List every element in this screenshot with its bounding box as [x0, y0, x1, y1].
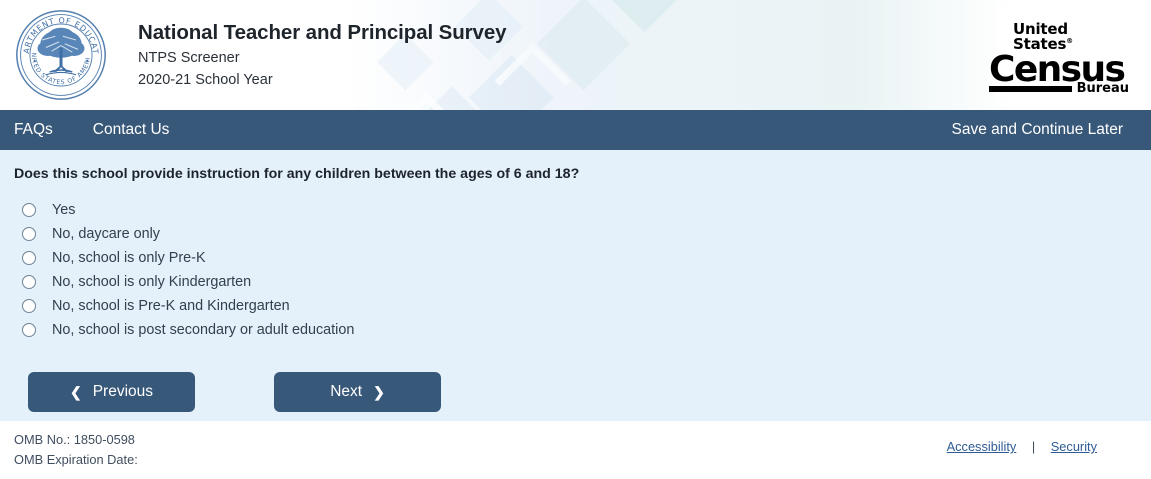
radio-button-yes[interactable]: [22, 203, 36, 217]
radio-label-daycare-only: No, daycare only: [52, 226, 160, 242]
survey-subtitle: NTPS Screener: [138, 51, 506, 66]
save-and-continue-later-link[interactable]: Save and Continue Later: [952, 121, 1123, 139]
census-logo-line1: United States®: [1013, 22, 1129, 52]
omb-number: OMB No.: 1850-0598: [14, 430, 138, 450]
nav-link-contact-us[interactable]: Contact Us: [93, 121, 170, 139]
survey-question-panel: Does this school provide instruction for…: [0, 150, 1151, 421]
page-footer: OMB No.: 1850-0598 OMB Expiration Date: …: [0, 421, 1151, 479]
next-button-label: Next: [330, 383, 362, 401]
footer-link-group: Accessibility | Security: [947, 439, 1097, 479]
radio-option-row[interactable]: No, school is only Pre-K: [14, 246, 1151, 270]
radio-button-only-kindergarten[interactable]: [22, 275, 36, 289]
radio-option-row[interactable]: No, school is only Kindergarten: [14, 270, 1151, 294]
radio-option-group[interactable]: Yes No, daycare only No, school is only …: [14, 198, 1151, 342]
census-logo-bureau: Bureau: [1077, 82, 1129, 95]
radio-option-row[interactable]: No, school is Pre-K and Kindergarten: [14, 294, 1151, 318]
census-bureau-logo: United States® Census Bureau: [989, 22, 1129, 95]
header-title-block: National Teacher and Principal Survey NT…: [138, 23, 506, 88]
chevron-left-icon: ❮: [70, 384, 82, 401]
accessibility-link[interactable]: Accessibility: [947, 439, 1017, 454]
question-text: Does this school provide instruction for…: [14, 166, 1151, 182]
radio-label-only-kindergarten: No, school is only Kindergarten: [52, 274, 251, 290]
radio-button-daycare-only[interactable]: [22, 227, 36, 241]
radio-button-post-secondary[interactable]: [22, 323, 36, 337]
radio-button-prek-and-kindergarten[interactable]: [22, 299, 36, 313]
radio-option-row[interactable]: No, daycare only: [14, 222, 1151, 246]
previous-button[interactable]: ❮ Previous: [28, 372, 195, 412]
previous-button-label: Previous: [93, 383, 153, 401]
school-year-label: 2020-21 School Year: [138, 73, 506, 88]
omb-expiration-date: OMB Expiration Date:: [14, 450, 138, 470]
omb-info-block: OMB No.: 1850-0598 OMB Expiration Date:: [14, 430, 138, 479]
chevron-right-icon: ❯: [373, 384, 385, 401]
radio-label-prek-and-kindergarten: No, school is Pre-K and Kindergarten: [52, 298, 290, 314]
radio-option-row[interactable]: Yes: [14, 198, 1151, 222]
census-logo-rule: [989, 86, 1072, 92]
radio-label-only-prek: No, school is only Pre-K: [52, 250, 206, 266]
navigation-button-row: ❮ Previous Next ❯: [14, 372, 1151, 412]
page-header: DEPARTMENT OF EDUCATION UNITED STATES OF…: [0, 0, 1151, 110]
registered-mark: ®: [1066, 37, 1073, 45]
radio-button-only-prek[interactable]: [22, 251, 36, 265]
radio-label-yes: Yes: [52, 202, 75, 218]
footer-link-separator: |: [1032, 439, 1035, 454]
radio-label-post-secondary: No, school is post secondary or adult ed…: [52, 322, 354, 338]
utility-navigation-bar: FAQs Contact Us Save and Continue Later: [0, 110, 1151, 150]
page-title: National Teacher and Principal Survey: [138, 23, 506, 44]
nav-link-faqs[interactable]: FAQs: [14, 121, 53, 139]
next-button[interactable]: Next ❯: [274, 372, 441, 412]
radio-option-row[interactable]: No, school is post secondary or adult ed…: [14, 318, 1151, 342]
security-link[interactable]: Security: [1051, 439, 1097, 454]
department-of-education-seal-icon: DEPARTMENT OF EDUCATION UNITED STATES OF…: [14, 8, 108, 102]
